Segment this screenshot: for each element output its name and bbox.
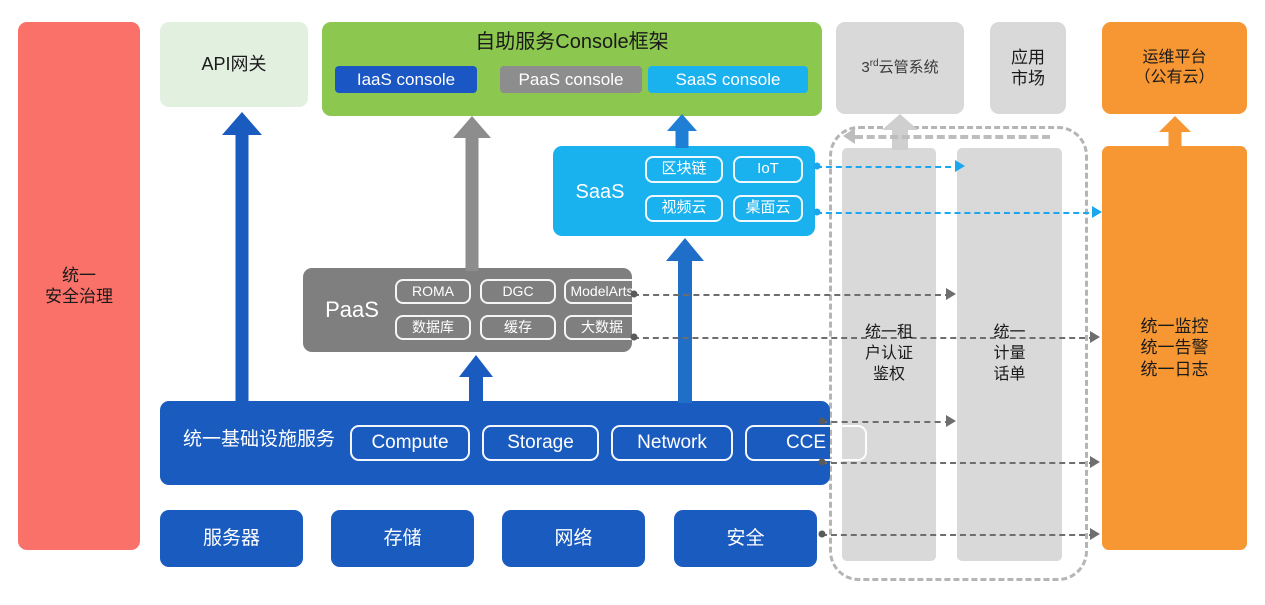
- paas-item-dgc[interactable]: DGC: [480, 279, 556, 304]
- connector-saas-to-metering: [816, 166, 961, 168]
- ops-platform-body-label: 统一监控 统一告警 统一日志: [1141, 316, 1209, 380]
- paas-item-bigdata[interactable]: 大数据: [564, 315, 640, 340]
- saas-block-label: SaaS: [565, 180, 635, 205]
- hardware-storage-label: 存储: [383, 527, 421, 551]
- hardware-network-label: 网络: [554, 527, 592, 551]
- paas-item-roma[interactable]: ROMA: [395, 279, 471, 304]
- connector-saas-to-ops: [816, 212, 1099, 214]
- third-party-cloud-mgmt-box: 3rd云管系统: [836, 22, 964, 114]
- connector-hardware-to-ops: [821, 534, 1095, 536]
- app-market-box: 应用 市场: [990, 22, 1066, 114]
- connector-arrowhead-left: [843, 128, 855, 144]
- arrow-shared-to-third-cloud: [880, 114, 920, 150]
- chip-iaas-console[interactable]: IaaS console: [335, 66, 477, 93]
- arrow-paas-to-console: [452, 116, 492, 271]
- connector-dot: [631, 334, 638, 341]
- paas-block: PaaS ROMA DGC ModelArts 数据库 缓存 大数据: [303, 268, 632, 352]
- app-market-label: 应用 市场: [1011, 47, 1045, 90]
- connector-dot: [814, 163, 821, 170]
- saas-block: SaaS 区块链 IoT 视频云 桌面云: [553, 146, 815, 236]
- service-column-unified-metering: 统一 计量 话单: [957, 148, 1062, 561]
- governance-panel: 统一 安全治理: [18, 22, 140, 550]
- service-column-metering-label: 统一 计量 话单: [993, 323, 1025, 385]
- architecture-diagram: 统一 安全治理 API网关 自助服务Console框架 IaaS console…: [0, 0, 1265, 605]
- paas-block-label: PaaS: [313, 296, 391, 324]
- service-column-auth-label: 统一租 户认证 鉴权: [865, 323, 913, 385]
- connector-arrowhead: [1092, 206, 1102, 218]
- infra-item-storage[interactable]: Storage: [482, 425, 599, 461]
- infra-item-cce[interactable]: CCE: [745, 425, 867, 461]
- paas-item-cache[interactable]: 缓存: [480, 315, 556, 340]
- connector-arrowhead: [955, 160, 965, 172]
- infra-bar-label: 统一基础设施服务: [174, 428, 344, 452]
- connector-infra-to-auth: [821, 421, 951, 423]
- governance-label: 统一 安全治理: [45, 265, 113, 308]
- hardware-security-label: 安全: [726, 527, 764, 551]
- connector-infra-to-ops: [821, 462, 1095, 464]
- infra-item-network[interactable]: Network: [611, 425, 733, 461]
- connector-dot: [819, 459, 826, 466]
- ops-platform-head-label: 运维平台 （公有云）: [1134, 48, 1214, 88]
- console-frame-title: 自助服务Console框架: [322, 30, 822, 55]
- chip-paas-console[interactable]: PaaS console: [500, 66, 642, 93]
- hardware-network-box: 网络: [502, 510, 645, 567]
- connector-arrowhead: [1090, 331, 1100, 343]
- hardware-server-label: 服务器: [203, 527, 260, 551]
- paas-item-database[interactable]: 数据库: [395, 315, 471, 340]
- saas-item-blockchain[interactable]: 区块链: [645, 156, 723, 183]
- third-cloud-label: 3rd云管系统: [861, 58, 938, 78]
- console-frame-panel: 自助服务Console框架 IaaS console PaaS console …: [322, 22, 822, 116]
- connector-arrowhead: [1090, 456, 1100, 468]
- connector-arrowhead: [1090, 528, 1100, 540]
- saas-item-iot[interactable]: IoT: [733, 156, 803, 183]
- arrow-ops-body-to-ops-head: [1157, 116, 1193, 150]
- saas-item-desktop-cloud[interactable]: 桌面云: [733, 195, 803, 222]
- infra-item-compute[interactable]: Compute: [350, 425, 470, 461]
- api-gateway-label: API网关: [201, 53, 266, 76]
- arrow-saas-to-console: [662, 114, 702, 148]
- ops-platform-head-box: 运维平台 （公有云）: [1102, 22, 1247, 114]
- ops-platform-body-box: 统一监控 统一告警 统一日志: [1102, 146, 1247, 550]
- connector-arrowhead: [946, 415, 956, 427]
- connector-paas-to-auth: [633, 294, 951, 296]
- api-gateway-box: API网关: [160, 22, 308, 107]
- arrow-infra-to-paas: [456, 355, 496, 403]
- hardware-security-box: 安全: [674, 510, 817, 567]
- connector-dot: [814, 209, 821, 216]
- hardware-storage-box: 存储: [331, 510, 474, 567]
- connector-arrowhead: [946, 288, 956, 300]
- connector-dot: [631, 291, 638, 298]
- saas-item-video-cloud[interactable]: 视频云: [645, 195, 723, 222]
- unified-infrastructure-bar: 统一基础设施服务 Compute Storage Network CCE: [160, 401, 830, 485]
- connector-dot: [819, 531, 826, 538]
- hardware-server-box: 服务器: [160, 510, 303, 567]
- arrow-infra-to-saas: [665, 238, 705, 403]
- connector-third-cloud-bus: [855, 135, 1050, 139]
- service-column-unified-auth: 统一租 户认证 鉴权: [842, 148, 936, 561]
- paas-item-modelarts[interactable]: ModelArts: [564, 279, 640, 304]
- arrow-infra-to-api-gateway: [222, 112, 262, 403]
- chip-saas-console[interactable]: SaaS console: [648, 66, 808, 93]
- connector-dot: [819, 418, 826, 425]
